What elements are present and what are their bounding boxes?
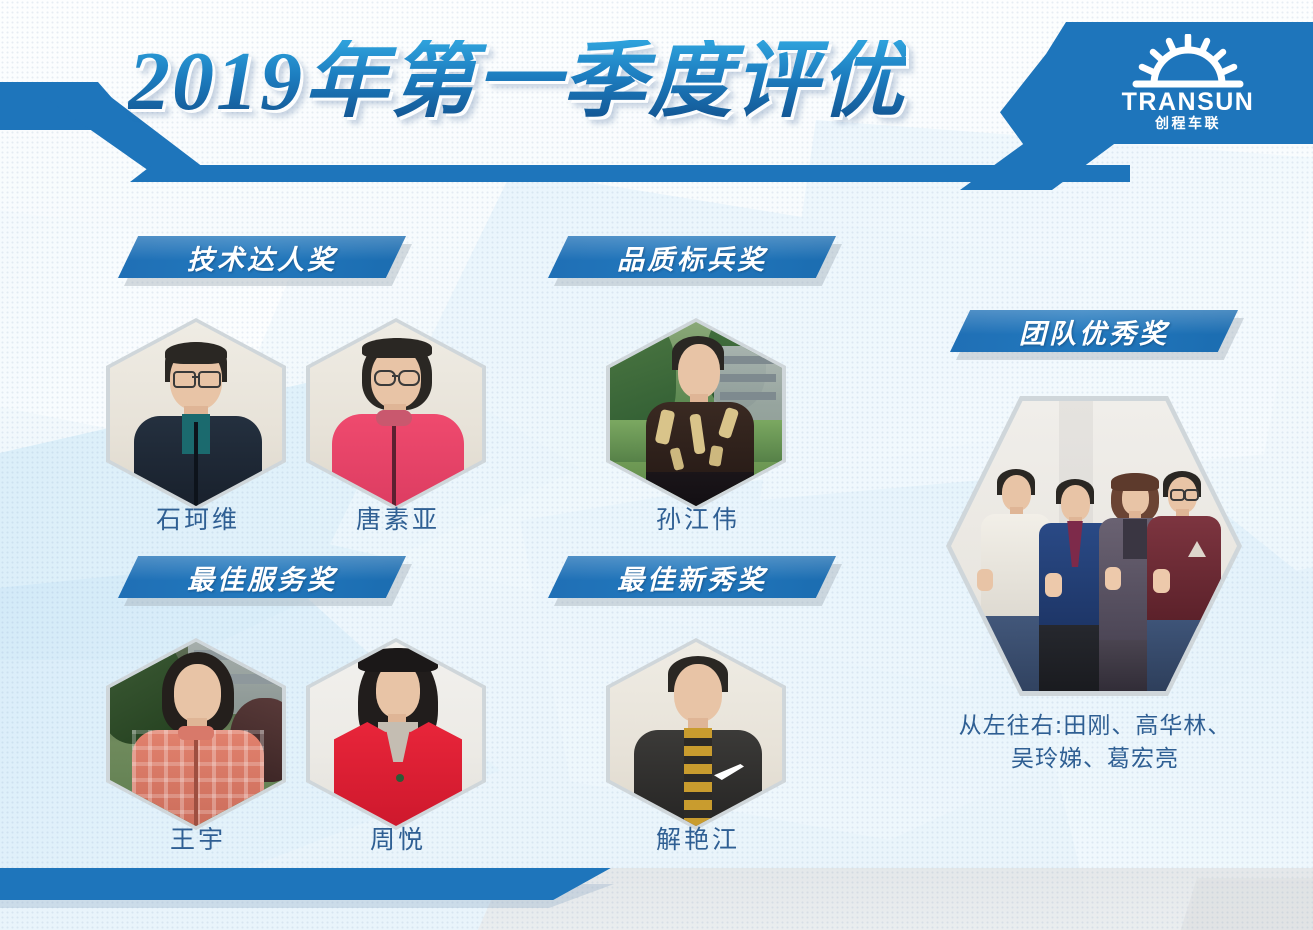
header-band-underline [130, 165, 1130, 182]
building-window [720, 356, 776, 364]
collar [376, 410, 412, 426]
shirt-placket [194, 734, 198, 826]
glasses-bridge [392, 375, 398, 377]
building-window [720, 374, 776, 382]
winner-name-4: 王宇 [108, 820, 288, 856]
footer-blue-bar [0, 868, 630, 900]
jacket-zipper [392, 418, 396, 506]
thumbs-up-hand [977, 569, 993, 591]
thumbs-up-hand [1045, 573, 1062, 597]
winner-name-5: 周悦 [308, 820, 488, 856]
face [174, 664, 221, 722]
logo-wordmark: TRANSUN [1122, 89, 1255, 115]
face [1002, 475, 1031, 511]
thumbs-up-hand [1105, 567, 1121, 590]
inner-top [1123, 519, 1147, 559]
winner-name-3: 孙江伟 [608, 500, 788, 536]
team-caption-line-2: 吴玲娣、葛宏亮 [930, 743, 1260, 776]
hair-top [165, 342, 227, 364]
face [1061, 485, 1090, 521]
jacket-placket [194, 422, 198, 506]
winner-name-2: 唐素亚 [308, 500, 488, 536]
award-banner-label: 技术达人奖 [118, 238, 406, 277]
winner-name-1: 石珂维 [108, 500, 288, 536]
face [674, 664, 722, 722]
winner-name-6: 解艳江 [608, 820, 788, 856]
sunrise-icon [1128, 34, 1248, 88]
poster-canvas: 2019年第一季度评优 TRANSUN 创程车联 [0, 0, 1313, 930]
award-banner-newcomer[interactable]: 最佳新秀奖 [548, 556, 836, 598]
award-banner-label: 品质标兵奖 [548, 238, 836, 277]
hair-top [1111, 473, 1159, 491]
company-logo: TRANSUN 创程车联 [1108, 34, 1268, 134]
award-banner-team[interactable]: 团队优秀奖 [950, 310, 1238, 352]
glasses-left-lens [374, 370, 396, 386]
award-banner-label: 团队优秀奖 [950, 312, 1238, 351]
glasses-bridge [192, 376, 198, 378]
building-window [720, 392, 776, 400]
glasses-left-lens [1170, 489, 1185, 501]
glasses-left-lens [173, 371, 196, 388]
thumbs-up-hand [1153, 569, 1170, 593]
glasses-right-lens [398, 370, 420, 386]
glasses-right-lens [198, 371, 221, 388]
award-banner-label: 最佳新秀奖 [548, 558, 836, 597]
inner-shirt-stripes [684, 728, 712, 826]
face [678, 344, 720, 398]
bg-grey-facet-3 [1180, 878, 1313, 930]
coat-button [396, 774, 404, 782]
award-banner-quality[interactable]: 品质标兵奖 [548, 236, 836, 278]
hair-top [358, 648, 438, 672]
glasses-right-lens [1184, 489, 1199, 501]
team-caption-line-1: 从左往右:田刚、高华林、 [930, 710, 1260, 743]
award-banner-label: 最佳服务奖 [118, 558, 406, 597]
logo-chinese-name: 创程车联 [1155, 116, 1221, 133]
team-caption: 从左往右:田刚、高华林、 吴玲娣、葛宏亮 [930, 710, 1260, 777]
award-banner-service[interactable]: 最佳服务奖 [118, 556, 406, 598]
collar [178, 726, 214, 740]
award-banner-tech[interactable]: 技术达人奖 [118, 236, 406, 278]
hair-top [362, 338, 432, 358]
page-title: 2019年第一季度评优 [128, 40, 906, 124]
